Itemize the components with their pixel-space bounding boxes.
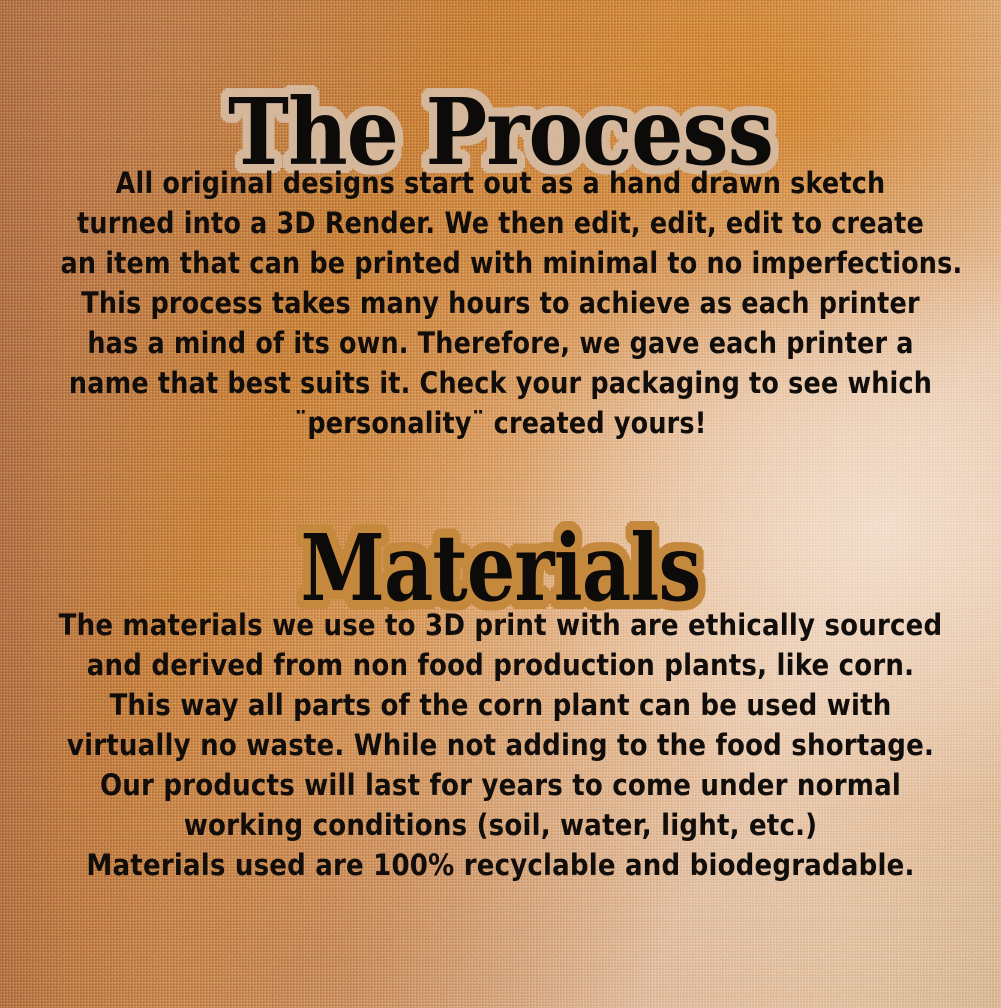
process-line-2: turned into a 3D Render. We then edit, e…: [61, 203, 941, 243]
process-line-3: an item that can be printed with minimal…: [61, 243, 941, 283]
content-layer: The Process All original designs start o…: [0, 0, 1001, 1008]
process-paragraph: All original designs start out as a hand…: [0, 163, 1001, 443]
materials-paragraph: The materials we use to 3D print with ar…: [0, 605, 1001, 885]
process-line-5: has a mind of its own. Therefore, we gav…: [61, 323, 941, 363]
materials-line-4: virtually no waste. While not adding to …: [51, 725, 951, 765]
materials-line-6: working conditions (soil, water, light, …: [51, 805, 951, 845]
info-graphic-canvas: The Process All original designs start o…: [0, 0, 1001, 1008]
process-line-6: name that best suits it. Check your pack…: [61, 363, 941, 403]
materials-line-7: Materials used are 100% recyclable and b…: [51, 845, 951, 885]
materials-line-5: Our products will last for years to come…: [51, 765, 951, 805]
materials-line-1: The materials we use to 3D print with ar…: [51, 605, 951, 645]
process-line-4: This process takes many hours to achieve…: [61, 283, 941, 323]
materials-heading: Materials: [86, 522, 915, 614]
process-line-1: All original designs start out as a hand…: [61, 163, 941, 203]
materials-line-3: This way all parts of the corn plant can…: [51, 685, 951, 725]
materials-line-2: and derived from non food production pla…: [51, 645, 951, 685]
process-line-7: ¨personality¨ created yours!: [61, 403, 941, 443]
